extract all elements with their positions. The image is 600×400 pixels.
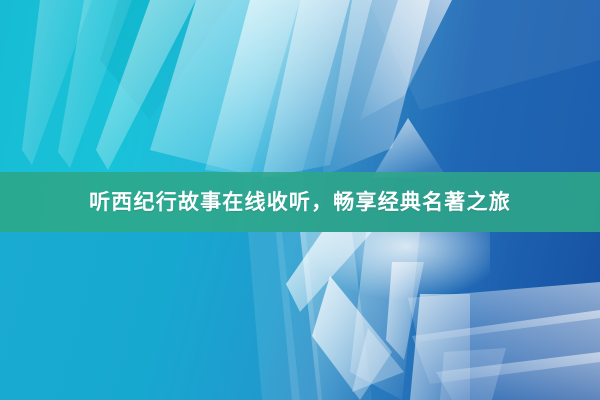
bottom-artwork-panel xyxy=(0,232,600,400)
bottom-artwork-shapes xyxy=(0,232,600,400)
banner-title: 听西纪行故事在线收听，畅享经典名著之旅 xyxy=(89,192,511,213)
banner-image: 听西纪行故事在线收听，畅享经典名著之旅 xyxy=(0,0,600,400)
title-band: 听西纪行故事在线收听，畅享经典名著之旅 xyxy=(0,172,600,232)
shape-highlight-glow xyxy=(270,232,490,352)
